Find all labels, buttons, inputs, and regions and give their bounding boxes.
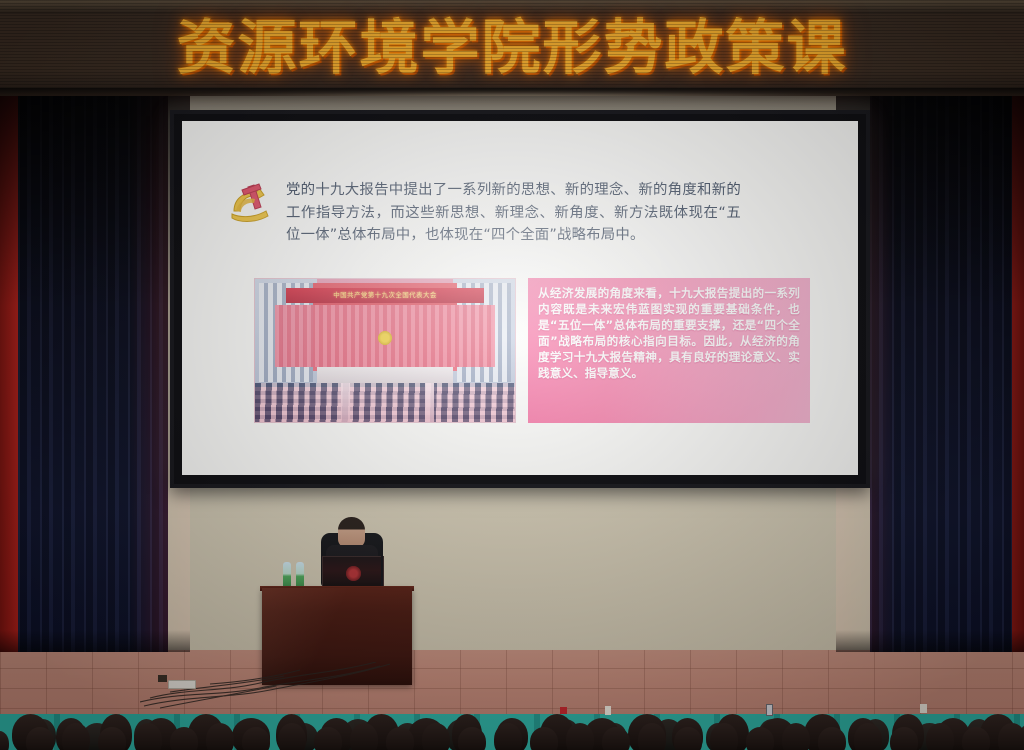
audience-member [62,723,90,750]
white-cup [920,704,927,713]
audience-member [854,723,882,750]
projection-screen-frame: 党的十九大报告中提出了一系列新的思想、新的理念、新的角度和新的工作指导方法，而这… [170,110,870,488]
auditorium-scene: 资源环境学院形势政策课 [0,0,1024,750]
audience-member [962,727,990,750]
audience-member [710,723,738,750]
ccp-hammer-sickle-icon [226,179,274,223]
presenter-head [338,517,365,548]
led-banner-text: 资源环境学院形势政策课 [0,12,1024,84]
hall-aisle-right [425,383,434,422]
audience-member [926,723,954,750]
audience-member [782,723,810,750]
audience-member [998,723,1024,750]
audience-member [458,727,486,750]
audience-member [638,723,666,750]
audience-member [530,727,558,750]
slide-body-paragraph: 党的十九大报告中提出了一系列新的思想、新的理念、新的角度和新的工作指导方法，而这… [286,179,741,247]
hall-delegate-seating [255,383,515,422]
curtain-hem-right [836,630,1024,652]
audience-member [134,723,162,750]
audience-member [350,723,378,750]
audience-member [818,727,846,750]
pink-commentary-text: 从经济发展的角度来看，十九大报告提出的一系列内容既是未来宏伟蓝图实现的重要基础条… [538,285,800,382]
audience-member [242,727,270,750]
led-banner: 资源环境学院形势政策课 [0,0,1024,96]
white-cup [605,706,611,715]
audience-member [746,727,774,750]
microphone-stem [381,545,383,587]
laptop [322,556,384,588]
audience-member [278,723,306,750]
audience-member [314,727,342,750]
audience-member [674,727,702,750]
presentation-slide: 党的十九大报告中提出了一系列新的思想、新的理念、新的角度和新的工作指导方法，而这… [182,121,858,475]
pink-commentary-box: 从经济发展的角度来看，十九大报告提出的一系列内容既是未来宏伟蓝图实现的重要基础条… [528,278,810,423]
raised-phone [766,704,773,716]
congress-hall-photo: 中国共产党第十九次全国代表大会 [254,278,516,423]
audience-member [602,727,630,750]
audience-member [422,723,450,750]
hall-aisle-left [341,383,350,422]
curtain-hem-left [0,630,190,652]
water-bottle [283,562,291,588]
cable-plug [158,675,167,682]
stage-curtain-left [0,96,190,652]
laptop-logo-icon [346,566,361,581]
audience-member [98,727,126,750]
audience-member [890,727,918,750]
audience-area [0,700,1024,750]
audience-member [494,723,522,750]
audience-member [386,727,414,750]
audience-member [26,727,54,750]
audience-member [206,723,234,750]
power-strip [168,680,196,689]
red-cup [560,707,567,714]
water-bottle [296,562,304,588]
curtain-top-shadow-left [0,96,190,306]
hall-emblem-icon [378,331,392,345]
congress-banner-text: 中国共产党第十九次全国代表大会 [286,288,484,303]
audience-member [566,723,594,750]
audience-member [170,727,198,750]
